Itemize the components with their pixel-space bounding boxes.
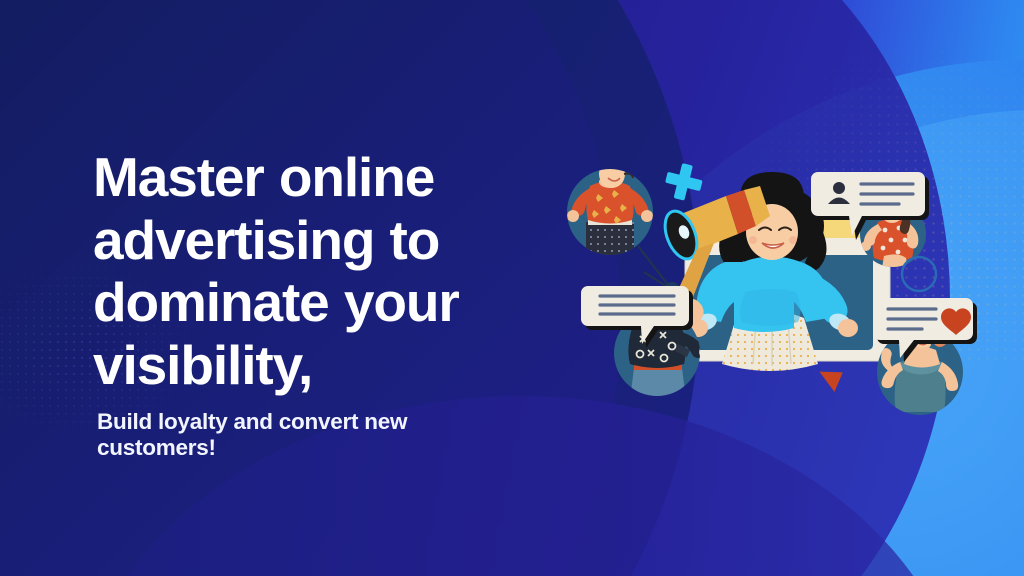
page-title: Master online advertising to dominate yo… [93,146,523,397]
x-cross-icon [662,160,706,204]
triangle-icon [819,365,847,395]
page-subtitle: Build loyalty and convert new customers! [97,409,523,461]
marketing-banner: Master online advertising to dominate yo… [0,0,1024,576]
copy-block: Master online advertising to dominate yo… [93,146,523,461]
hero-illustration [560,150,980,435]
circle-outline-icon [902,257,936,291]
